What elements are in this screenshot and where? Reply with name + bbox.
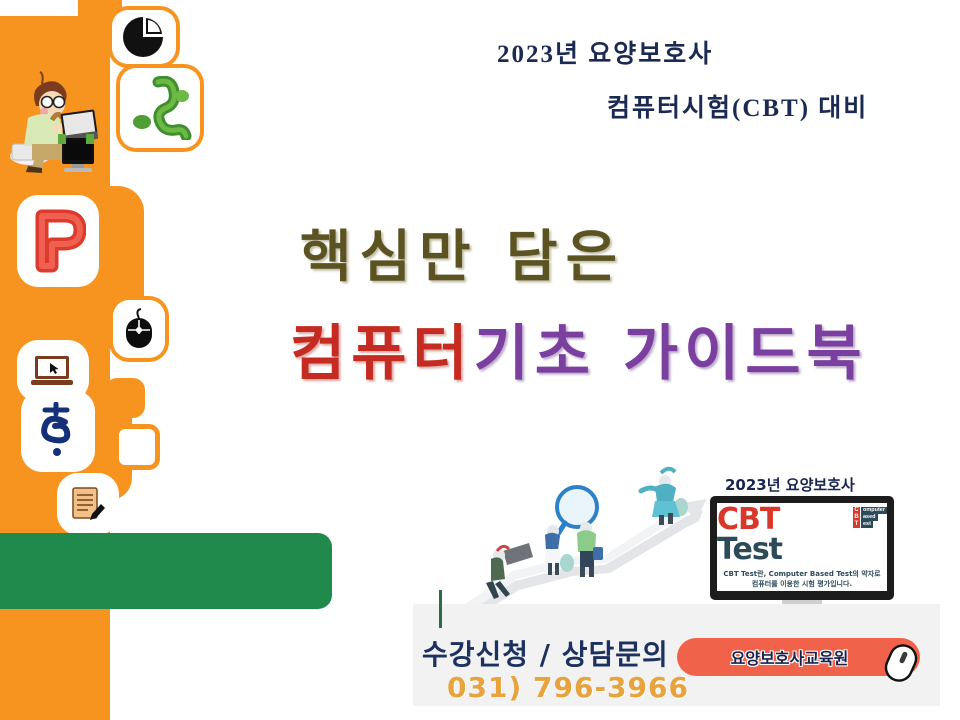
mouse-pointer-icon xyxy=(884,641,918,685)
cbt-acronym-letter: C xyxy=(853,507,860,514)
contact-phone: 031) 796-3966 xyxy=(447,671,689,704)
monitor-top-label: 2023년 요양보호사 xyxy=(725,474,855,495)
deco-square-solid xyxy=(105,378,145,418)
title-line-1: 핵심만 담은 xyxy=(300,212,625,293)
laptop-cursor-icon xyxy=(22,345,84,397)
header-line-1: 2023년 요양보호사 xyxy=(497,34,713,70)
green-accent-bar xyxy=(0,533,332,609)
cbt-acronym-row: T est xyxy=(853,521,887,528)
monitor-screen: CBT Test C omputer B ased T est xyxy=(717,503,887,591)
poster-canvas: 2023년 요양보호사 컴퓨터시험(CBT) 대비 핵심만 담은 컴퓨터기초 가… xyxy=(0,0,960,720)
title-line-2-purple: 기초 가이드북 xyxy=(474,319,868,389)
pie-chart-icon xyxy=(112,10,176,64)
cbt-logo: CBT Test C omputer B ased T est xyxy=(717,505,887,565)
mouse-icon xyxy=(113,300,165,358)
excel-green-icon xyxy=(120,68,200,148)
contact-heading: 수강신청 / 상담문의 xyxy=(422,633,669,673)
people-climbing-ramp-illustration xyxy=(455,455,745,620)
cbt-acronym-stack: C omputer B ased T est xyxy=(853,507,887,528)
cbt-acronym-letter: T xyxy=(853,521,860,528)
green-tick-divider xyxy=(439,590,442,628)
title-line-2-red: 컴퓨터 xyxy=(290,319,474,389)
cbt-logo-text: CBT Test xyxy=(717,505,852,565)
cbt-logo-test: Test xyxy=(717,532,782,567)
title-line-2: 컴퓨터기초 가이드북 xyxy=(290,305,868,392)
deco-square-outline xyxy=(114,424,160,470)
header-line-2: 컴퓨터시험(CBT) 대비 xyxy=(607,88,868,124)
cbt-acronym-word: omputer xyxy=(861,507,887,514)
academy-button-label: 요양보호사교육원 xyxy=(731,645,849,669)
cbt-acronym-word: est xyxy=(861,521,873,528)
cbt-acronym-word: ased xyxy=(861,514,878,521)
cbt-acronym-row: C omputer xyxy=(853,507,887,514)
person-at-laptop-icon xyxy=(6,48,98,176)
cbt-acronym-letter: B xyxy=(853,514,860,521)
cbt-caption: CBT Test란, Computer Based Test의 약자로 컴퓨터를… xyxy=(723,569,880,589)
cbt-acronym-row: B ased xyxy=(853,514,887,521)
powerpoint-p-icon xyxy=(22,200,94,282)
cbt-caption-line-2: 컴퓨터를 이용한 시험 평가입니다. xyxy=(723,579,880,589)
hangul-h-icon xyxy=(26,395,90,467)
document-pen-icon xyxy=(62,478,114,530)
cbt-caption-line-1: CBT Test란, Computer Based Test의 약자로 xyxy=(723,569,880,579)
cbt-monitor: CBT Test C omputer B ased T est xyxy=(710,496,894,600)
